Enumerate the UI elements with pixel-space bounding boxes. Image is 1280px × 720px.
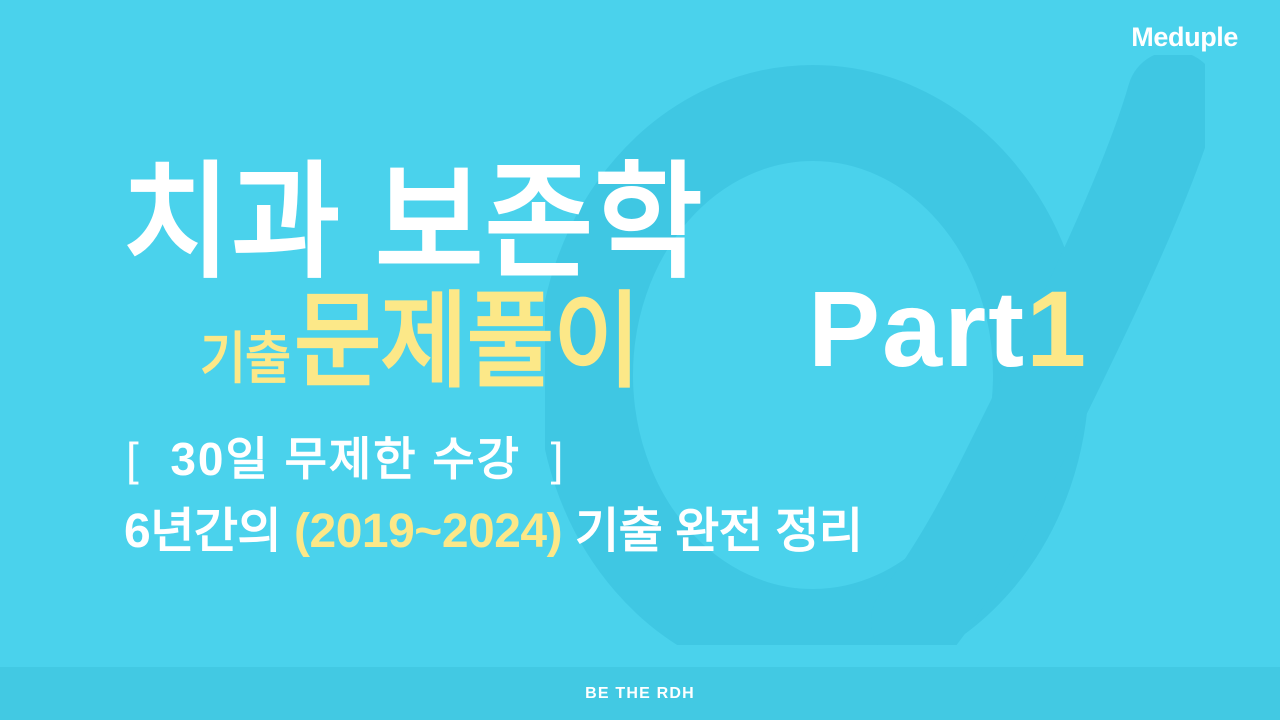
headline-stack: 치과 보존학 기출 문제풀이 Part1 [ 30일 무제한 수강 ] 6년간의… bbox=[0, 0, 1280, 667]
promo-duration-text: 30일 무제한 수강 bbox=[170, 433, 521, 485]
footer-tagline: BE THE RDH bbox=[585, 685, 695, 703]
promo-poster: Meduple 치과 보존학 기출 문제풀이 Part1 [ 30일 무제한 수… bbox=[0, 0, 1280, 720]
part-label: Part1 bbox=[808, 275, 1088, 383]
promo-coverage: 6년간의 (2019~2024) 기출 완전 정리 bbox=[124, 508, 863, 556]
coverage-suffix: 기출 완전 정리 bbox=[575, 505, 863, 558]
brand-logo: Meduple bbox=[1131, 24, 1238, 51]
subtitle-prefix: 기출 bbox=[200, 331, 290, 387]
promo-duration: [ 30일 무제한 수강 ] bbox=[126, 436, 565, 482]
subtitle-emphasis: 문제풀이 bbox=[294, 291, 640, 396]
part-word: Part bbox=[808, 268, 1026, 389]
footer-bar: BE THE RDH bbox=[0, 667, 1280, 720]
part-number: 1 bbox=[1026, 268, 1088, 389]
bracket-close-glyph: ] bbox=[551, 433, 566, 485]
coverage-prefix: 6년간의 bbox=[124, 505, 281, 558]
coverage-years: (2019~2024) bbox=[294, 505, 562, 558]
subtitle-group: 기출 문제풀이 bbox=[200, 300, 640, 395]
bracket-open-glyph: [ bbox=[126, 433, 141, 485]
page-title: 치과 보존학 bbox=[122, 160, 704, 286]
